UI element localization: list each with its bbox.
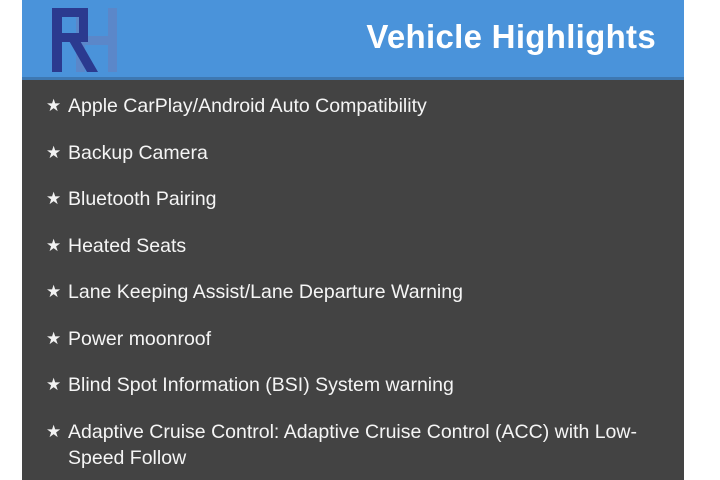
list-item: ★Apple CarPlay/Android Auto Compatibilit… bbox=[46, 93, 671, 119]
vehicle-highlights-list: ★Apple CarPlay/Android Auto Compatibilit… bbox=[22, 80, 684, 480]
list-item-label: Backup Camera bbox=[68, 140, 671, 166]
list-item: ★Backup Camera bbox=[46, 140, 671, 166]
list-item: ★Power moonroof bbox=[46, 326, 671, 352]
list-item-label: Apple CarPlay/Android Auto Compatibility bbox=[68, 93, 671, 119]
list-item-label: Blind Spot Information (BSI) System warn… bbox=[68, 372, 671, 398]
list-item-label: Lane Keeping Assist/Lane Departure Warni… bbox=[68, 279, 671, 305]
star-bullet-icon: ★ bbox=[46, 93, 68, 119]
page-title: Vehicle Highlights bbox=[236, 14, 656, 60]
list-item: ★Lane Keeping Assist/Lane Departure Warn… bbox=[46, 279, 671, 305]
list-item-label: Heated Seats bbox=[68, 233, 671, 259]
star-bullet-icon: ★ bbox=[46, 233, 68, 259]
star-bullet-icon: ★ bbox=[46, 326, 68, 352]
star-bullet-icon: ★ bbox=[46, 419, 68, 445]
star-bullet-icon: ★ bbox=[46, 279, 68, 305]
list-item: ★Heated Seats bbox=[46, 233, 671, 259]
star-bullet-icon: ★ bbox=[46, 186, 68, 212]
list-item: ★Bluetooth Pairing bbox=[46, 186, 671, 212]
list-item-label: Adaptive Cruise Control: Adaptive Cruise… bbox=[68, 419, 671, 471]
list-item-label: Bluetooth Pairing bbox=[68, 186, 671, 212]
list-item-label: Power moonroof bbox=[68, 326, 671, 352]
list-item: ★Adaptive Cruise Control: Adaptive Cruis… bbox=[46, 419, 671, 471]
rh-monogram-logo bbox=[46, 6, 128, 74]
star-bullet-icon: ★ bbox=[46, 140, 68, 166]
list-item: ★Blind Spot Information (BSI) System war… bbox=[46, 372, 671, 398]
star-bullet-icon: ★ bbox=[46, 372, 68, 398]
slide: Vehicle Highlights ★Apple CarPlay/Androi… bbox=[22, 0, 684, 480]
slide-header: Vehicle Highlights bbox=[22, 0, 684, 80]
